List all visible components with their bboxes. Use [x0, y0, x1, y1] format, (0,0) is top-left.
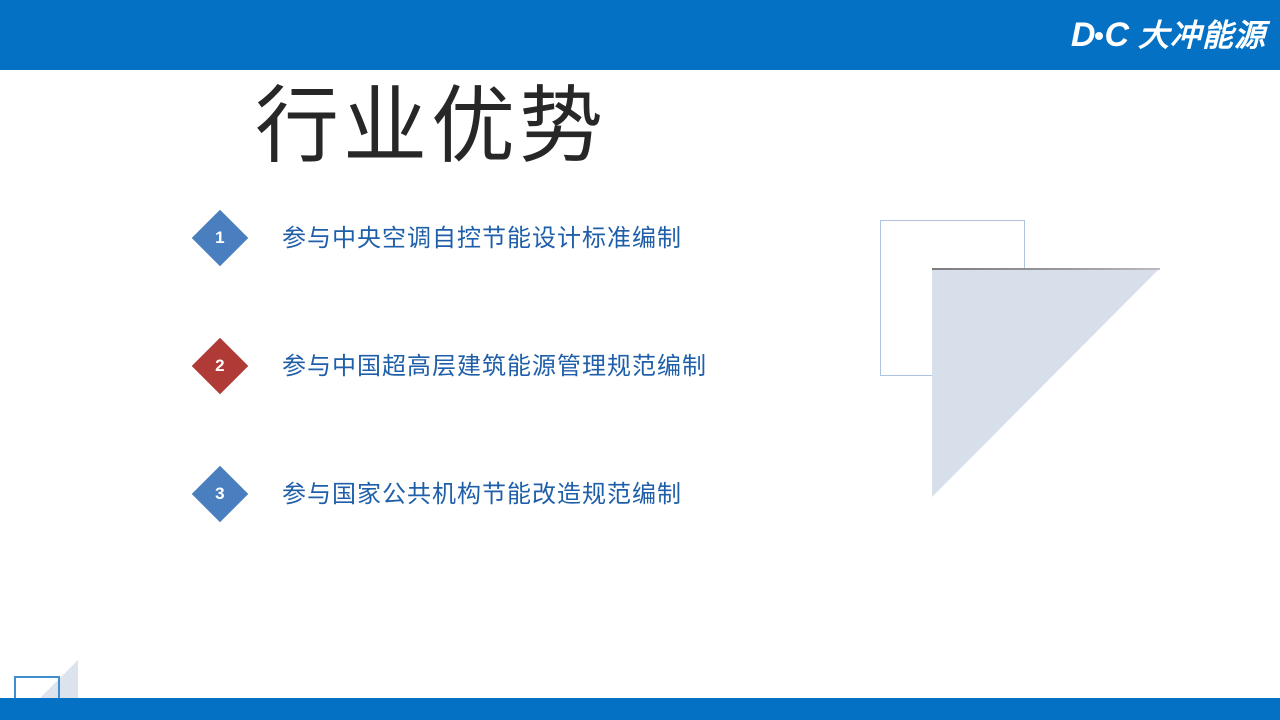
company-logo: D C 大冲能源: [1071, 18, 1266, 52]
logo-monogram-icon: D C: [1071, 18, 1128, 52]
bullet-text: 参与国家公共机构节能改造规范编制: [282, 477, 682, 511]
bullet-diamond-icon: 3: [192, 466, 249, 523]
logo-company-name: 大冲能源: [1138, 20, 1266, 51]
bullet-text: 参与中国超高层建筑能源管理规范编制: [282, 349, 707, 383]
header-bar: D C 大冲能源: [0, 0, 1280, 70]
slide: D C 大冲能源 行业优势 1 参与中央空调自控节能设计标准编制 2 参与中国超…: [0, 0, 1280, 720]
bullet-number: 1: [215, 228, 224, 248]
list-item: 2 参与中国超高层建筑能源管理规范编制: [196, 340, 816, 468]
bullet-list: 1 参与中央空调自控节能设计标准编制 2 参与中国超高层建筑能源管理规范编制 3…: [196, 212, 816, 596]
bullet-diamond-icon: 2: [192, 338, 249, 395]
logo-letter-d: D: [1071, 18, 1095, 52]
bullet-diamond-icon: 1: [192, 210, 249, 267]
logo-dot-icon: [1095, 32, 1103, 40]
logo-letter-c: C: [1104, 18, 1128, 52]
bullet-number: 3: [215, 484, 224, 504]
bullet-text: 参与中央空调自控节能设计标准编制: [282, 221, 682, 255]
decoration-triangle-fill: [932, 268, 1160, 497]
page-title: 行业优势: [255, 82, 607, 170]
list-item: 3 参与国家公共机构节能改造规范编制: [196, 468, 816, 596]
bullet-number: 2: [215, 356, 224, 376]
footer-bar: [0, 698, 1280, 720]
decoration-triangle: [932, 268, 1160, 497]
decoration-right: [878, 218, 1178, 518]
list-item: 1 参与中央空调自控节能设计标准编制: [196, 212, 816, 340]
decoration-triangle-edge: [932, 268, 1160, 270]
